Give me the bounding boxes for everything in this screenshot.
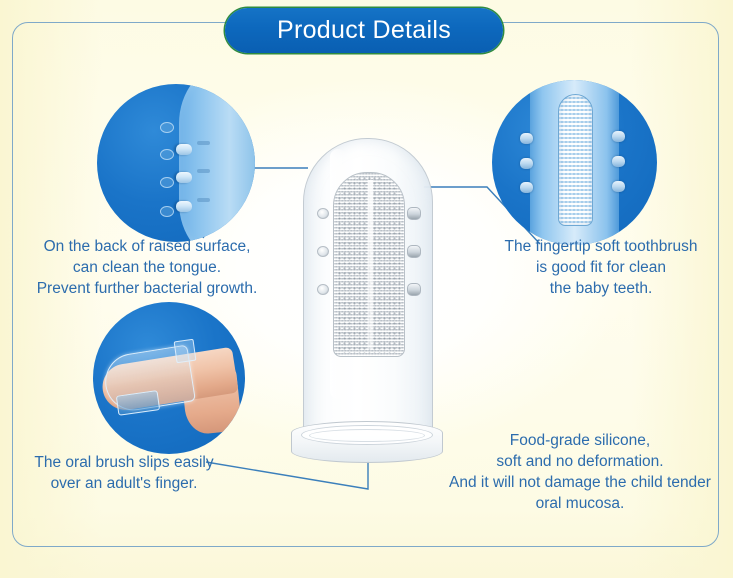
product-details-infographic: Product Details On the back of raised su…	[0, 0, 733, 578]
bristle-dot-texture	[337, 176, 401, 353]
raised-nub-ring	[160, 122, 174, 133]
brush-head-body-art	[530, 80, 619, 245]
caption-line: The oral brush slips easily	[10, 452, 238, 473]
caption-oral-brush-fit: The oral brush slips easily over an adul…	[10, 452, 238, 494]
product-side-nub	[407, 283, 421, 296]
raised-nub-ring	[160, 149, 174, 160]
raised-nub	[176, 144, 192, 155]
caption-food-grade-silicone: Food-grade silicone, soft and no deforma…	[440, 430, 720, 514]
caption-line: The fingertip soft toothbrush	[485, 236, 717, 257]
caption-line: On the back of raised surface,	[16, 236, 278, 257]
sleeve-tab-art	[116, 390, 160, 416]
product-side-nub	[407, 245, 421, 258]
product-bristle-panel	[333, 172, 405, 357]
raised-nub-ring	[160, 177, 174, 188]
product-image-silicone-finger-toothbrush	[291, 138, 443, 463]
side-nub	[612, 181, 625, 192]
bristle-panel-art	[558, 94, 594, 226]
side-nub	[612, 156, 625, 167]
side-nub	[520, 158, 533, 169]
raised-nub-highlight	[197, 198, 210, 202]
caption-raised-surface: On the back of raised surface, can clean…	[16, 236, 278, 299]
inset-circle-brush-head	[492, 80, 657, 245]
side-nub	[612, 131, 625, 142]
page-title: Product Details	[277, 16, 451, 45]
product-side-hole	[317, 246, 329, 257]
raised-nub-highlight	[197, 169, 210, 173]
inset-circle-raised-surface	[97, 84, 255, 242]
brush-back-body-art	[179, 84, 255, 242]
product-side-hole	[317, 284, 329, 295]
sleeve-tab-art	[174, 339, 197, 363]
caption-line: can clean the tongue.	[16, 257, 278, 278]
product-base-rim-inner2	[309, 429, 425, 442]
inset-circle-finger-fit	[93, 302, 245, 454]
side-nub	[520, 133, 533, 144]
caption-line: And it will not damage the child tender	[440, 472, 720, 493]
caption-line: is good fit for clean	[485, 257, 717, 278]
raised-nub-highlight	[197, 141, 210, 145]
header-banner: Product Details	[225, 8, 503, 53]
side-nub	[520, 182, 533, 193]
product-side-nub	[407, 207, 421, 220]
raised-nub-ring	[160, 206, 174, 217]
caption-fingertip-toothbrush: The fingertip soft toothbrush is good fi…	[485, 236, 717, 299]
caption-line: oral mucosa.	[440, 493, 720, 514]
product-side-hole	[317, 208, 329, 219]
raised-nub	[176, 172, 192, 183]
caption-line: over an adult's finger.	[10, 473, 238, 494]
raised-nub	[176, 201, 192, 212]
caption-line: the baby teeth.	[485, 278, 717, 299]
caption-line: Food-grade silicone,	[440, 430, 720, 451]
caption-line: soft and no deformation.	[440, 451, 720, 472]
caption-line: Prevent further bacterial growth.	[16, 278, 278, 299]
